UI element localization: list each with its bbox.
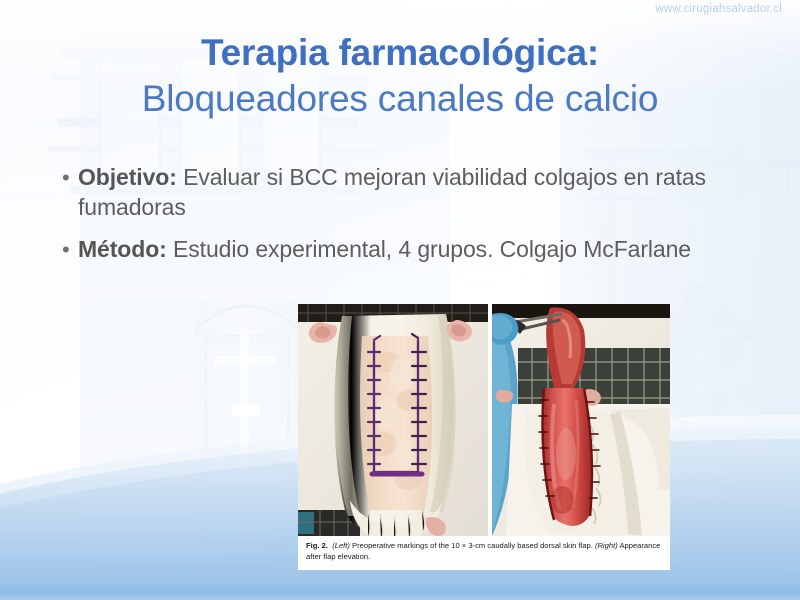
figure-image-right bbox=[492, 304, 670, 536]
bottom-accent-band bbox=[0, 584, 800, 600]
figure-caption-right-tag: (Right) bbox=[595, 541, 618, 550]
figure-caption-label: Fig. 2. bbox=[306, 541, 328, 550]
bullet-body-metodo: Estudio experimental, 4 grupos. Colgajo … bbox=[167, 236, 691, 262]
bullet-text-metodo: Método: Estudio experimental, 4 grupos. … bbox=[78, 235, 762, 265]
bullet-lead-objetivo: Objetivo: bbox=[78, 164, 177, 190]
figure-image-left bbox=[298, 304, 488, 536]
figure-caption: Fig. 2. (Left) Preoperative markings of … bbox=[306, 541, 664, 563]
bullet-item-metodo: • Método: Estudio experimental, 4 grupos… bbox=[62, 235, 762, 265]
figure-caption-part1: Preoperative markings of the 10 × 3-cm c… bbox=[350, 541, 595, 550]
site-url-watermark: www.cirugiahsalvador.cl bbox=[655, 3, 782, 15]
bullet-item-objetivo: • Objetivo: Evaluar si BCC mejoran viabi… bbox=[62, 163, 762, 223]
bullet-text-objetivo: Objetivo: Evaluar si BCC mejoran viabili… bbox=[78, 163, 762, 223]
slide-title: Terapia farmacológica: Bloqueadores cana… bbox=[0, 32, 800, 120]
bullet-list: • Objetivo: Evaluar si BCC mejoran viabi… bbox=[62, 163, 762, 277]
bullet-marker-icon: • bbox=[62, 235, 78, 265]
bullet-marker-icon: • bbox=[62, 163, 78, 193]
figure-images bbox=[298, 304, 670, 536]
figure-caption-left-tag: (Left) bbox=[332, 541, 350, 550]
bullet-lead-metodo: Método: bbox=[78, 236, 167, 262]
slide-canvas: www.cirugiahsalvador.cl Terapia farmacol… bbox=[0, 0, 800, 600]
figure-block: Fig. 2. (Left) Preoperative markings of … bbox=[298, 304, 670, 570]
figure-caption-box: Fig. 2. (Left) Preoperative markings of … bbox=[298, 536, 670, 570]
title-line-2: Bloqueadores canales de calcio bbox=[0, 78, 800, 119]
title-line-1: Terapia farmacológica: bbox=[0, 32, 800, 73]
